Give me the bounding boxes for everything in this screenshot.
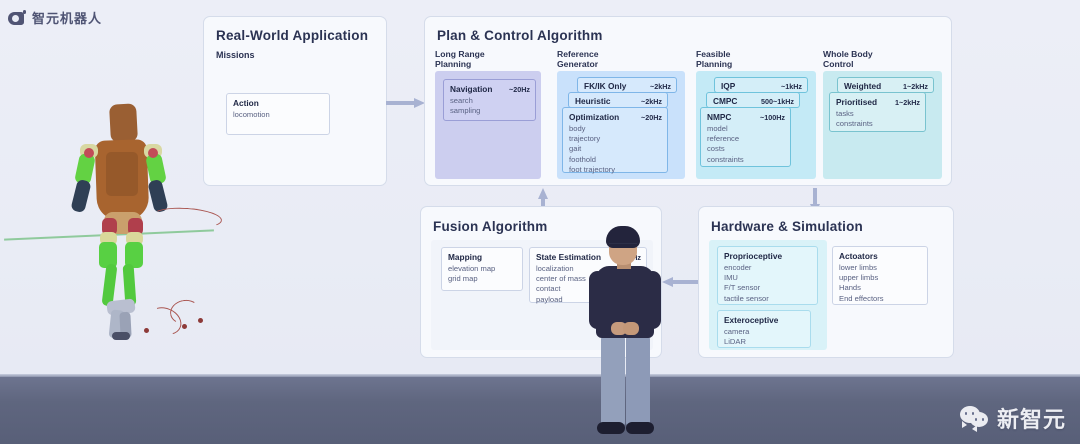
card-nmpc-hz: ~100Hz (760, 113, 785, 123)
wechat-icon (960, 406, 990, 430)
card-action-name: Action (233, 98, 259, 109)
card-iqp[interactable]: IQP ~1kHz (714, 77, 808, 93)
card-proprioceptive-items: encoder IMU F/T sensor tactile sensor (724, 263, 812, 304)
panel-title-real-world: Real-World Application (216, 28, 368, 43)
card-iqp-name: IQP (721, 81, 735, 92)
card-actoators-items: lower limbs upper limbs Hands End effect… (839, 263, 922, 304)
card-action-items: locomotion (233, 110, 324, 120)
card-heuristic[interactable]: Heuristic ~2kHz (568, 92, 668, 108)
card-exteroceptive-name: Exteroceptive (724, 315, 778, 326)
card-mapping-name: Mapping (448, 252, 482, 263)
panel-title-fusion: Fusion Algorithm (433, 219, 547, 234)
arrow-realworld-to-plan (386, 98, 427, 108)
architecture-diagram: Real-World Application Missions Action l… (0, 0, 1080, 444)
card-navigation-items: search sampling (450, 96, 530, 116)
card-prioritised-items: tasks constraints (836, 109, 920, 129)
card-proprioceptive-name: Proprioceptive (724, 251, 782, 262)
card-weighted[interactable]: Weighted 1~2kHz (837, 77, 934, 93)
card-iqp-hz: ~1kHz (781, 82, 802, 92)
card-heuristic-hz: ~2kHz (641, 97, 662, 107)
card-fk-ik-only-hz: ~2kHz (650, 82, 671, 92)
col-title-long-range-planning: Long Range Planning (435, 49, 485, 70)
card-cmpc-name: CMPC (713, 96, 737, 107)
card-cmpc-hz: 500~1kHz (761, 97, 794, 107)
col-title-reference-generator: Reference Generator (557, 49, 599, 70)
panel-hardware-simulation: Hardware & Simulation Proprioceptive enc… (698, 206, 954, 358)
panel-plan-control-algorithm: Plan & Control Algorithm Long Range Plan… (424, 16, 952, 186)
col-title-feasible-planning: Feasible Planning (696, 49, 732, 70)
card-optimization-hz: ~20Hz (641, 113, 662, 123)
card-weighted-name: Weighted (844, 81, 881, 92)
col-title-whole-body-control: Whole Body Control (823, 49, 873, 70)
card-heuristic-name: Heuristic (575, 96, 611, 107)
card-fk-ik-only-name: FK/IK Only (584, 81, 626, 92)
card-weighted-hz: 1~2kHz (903, 82, 928, 92)
card-exteroceptive[interactable]: Exteroceptive camera LiDAR (717, 310, 811, 348)
card-navigation-hz: ~20Hz (509, 85, 530, 95)
card-cmpc[interactable]: CMPC 500~1kHz (706, 92, 800, 108)
card-optimization-name: Optimization (569, 112, 619, 123)
watermark-text: 新智元 (997, 402, 1066, 434)
card-prioritised[interactable]: Prioritised 1~2kHz tasks constraints (829, 92, 926, 132)
label-missions: Missions (216, 50, 255, 61)
card-prioritised-name: Prioritised (836, 97, 877, 108)
card-prioritised-hz: 1~2kHz (895, 98, 920, 108)
card-mapping-items: elevation map grid map (448, 264, 517, 284)
card-nmpc-items: model reference costs constraints (707, 124, 785, 165)
card-navigation[interactable]: Navigation ~20Hz search sampling (443, 79, 536, 121)
card-fk-ik-only[interactable]: FK/IK Only ~2kHz (577, 77, 677, 93)
panel-real-world-application: Real-World Application Missions Action l… (203, 16, 387, 186)
card-exteroceptive-items: camera LiDAR (724, 327, 805, 347)
card-mapping[interactable]: Mapping elevation map grid map (441, 247, 523, 291)
wechat-watermark: 新智元 (960, 402, 1066, 434)
card-navigation-name: Navigation (450, 84, 492, 95)
presenter-person (578, 226, 674, 444)
card-proprioceptive[interactable]: Proprioceptive encoder IMU F/T sensor ta… (717, 246, 818, 305)
panel-title-plan-control: Plan & Control Algorithm (437, 28, 603, 43)
card-nmpc[interactable]: NMPC ~100Hz model reference costs constr… (700, 107, 791, 167)
card-actoators[interactable]: Actoators lower limbs upper limbs Hands … (832, 246, 928, 305)
card-actoators-name: Actoators (839, 251, 878, 262)
card-action[interactable]: Action locomotion (226, 93, 330, 135)
card-optimization-items: body trajectory gait foothold foot traje… (569, 124, 662, 175)
card-optimization[interactable]: Optimization ~20Hz body trajectory gait … (562, 107, 668, 173)
panel-title-hardware: Hardware & Simulation (711, 219, 863, 234)
card-nmpc-name: NMPC (707, 112, 731, 123)
